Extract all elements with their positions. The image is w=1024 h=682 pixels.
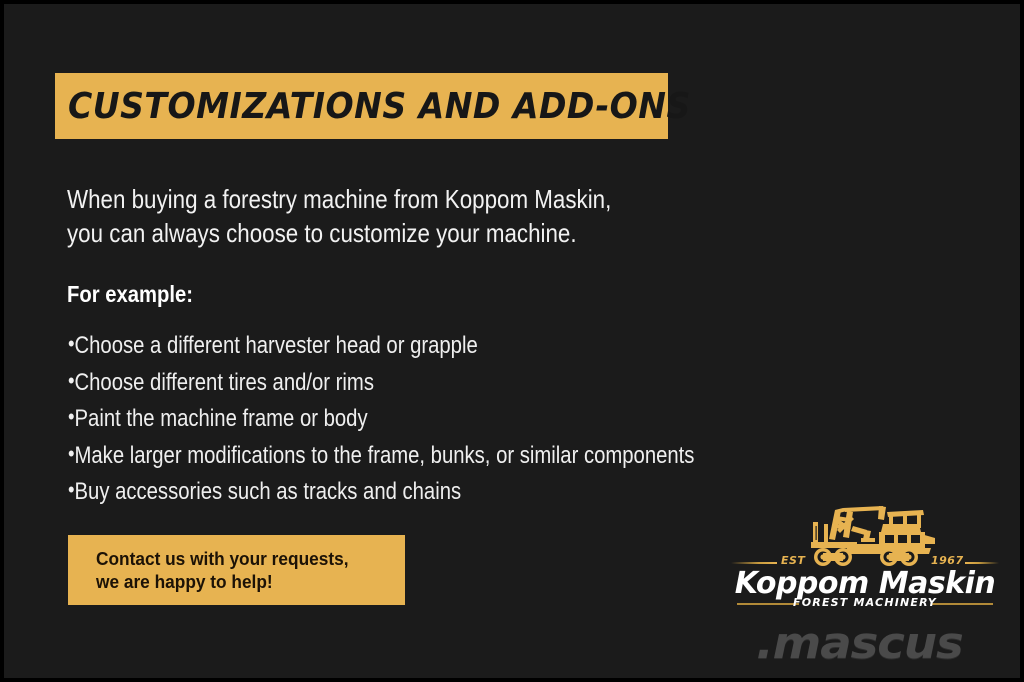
logo-rule-right [965,562,999,564]
for-example-label: For example: [67,281,193,308]
contact-cta-button[interactable]: Contact us with your requests, we are ha… [68,535,405,605]
list-item-label: Paint the machine frame or body [75,405,368,432]
logo-rule-left [731,562,777,564]
list-item-label: Buy accessories such as tracks and chain… [75,478,462,505]
list-item: •Make larger modifications to the frame,… [68,437,744,474]
title-banner: CUSTOMIZATIONS AND ADD-ONS [55,73,668,139]
list-item: •Choose a different harvester head or gr… [68,327,744,364]
list-item: •Paint the machine frame or body [68,400,744,437]
intro-paragraph: When buying a forestry machine from Kopp… [67,182,686,250]
page-title: CUSTOMIZATIONS AND ADD-ONS [68,86,691,127]
koppom-maskin-logo: EST 1967 Koppom Maskin FOREST MACHINERY [731,504,999,614]
intro-line-2: you can always choose to customize your … [67,216,686,250]
contact-cta-line-2: we are happy to help! [96,571,393,594]
mascus-watermark: .mascus [756,618,963,669]
slide-panel: CUSTOMIZATIONS AND ADD-ONS When buying a… [4,4,1020,678]
logo-tagline-row: FOREST MACHINERY [731,596,999,610]
logo-tagline: FOREST MACHINERY [731,596,999,609]
contact-cta-line-1: Contact us with your requests, [96,548,393,571]
list-item: •Choose different tires and/or rims [68,364,744,401]
list-item-label: Choose different tires and/or rims [75,369,374,396]
customization-options-list: •Choose a different harvester head or gr… [68,327,868,510]
promo-slide: CUSTOMIZATIONS AND ADD-ONS When buying a… [0,0,1024,682]
list-item-label: Make larger modifications to the frame, … [75,442,695,469]
list-item: •Buy accessories such as tracks and chai… [68,473,744,510]
intro-line-1: When buying a forestry machine from Kopp… [67,182,686,216]
list-item-label: Choose a different harvester head or gra… [75,332,478,359]
